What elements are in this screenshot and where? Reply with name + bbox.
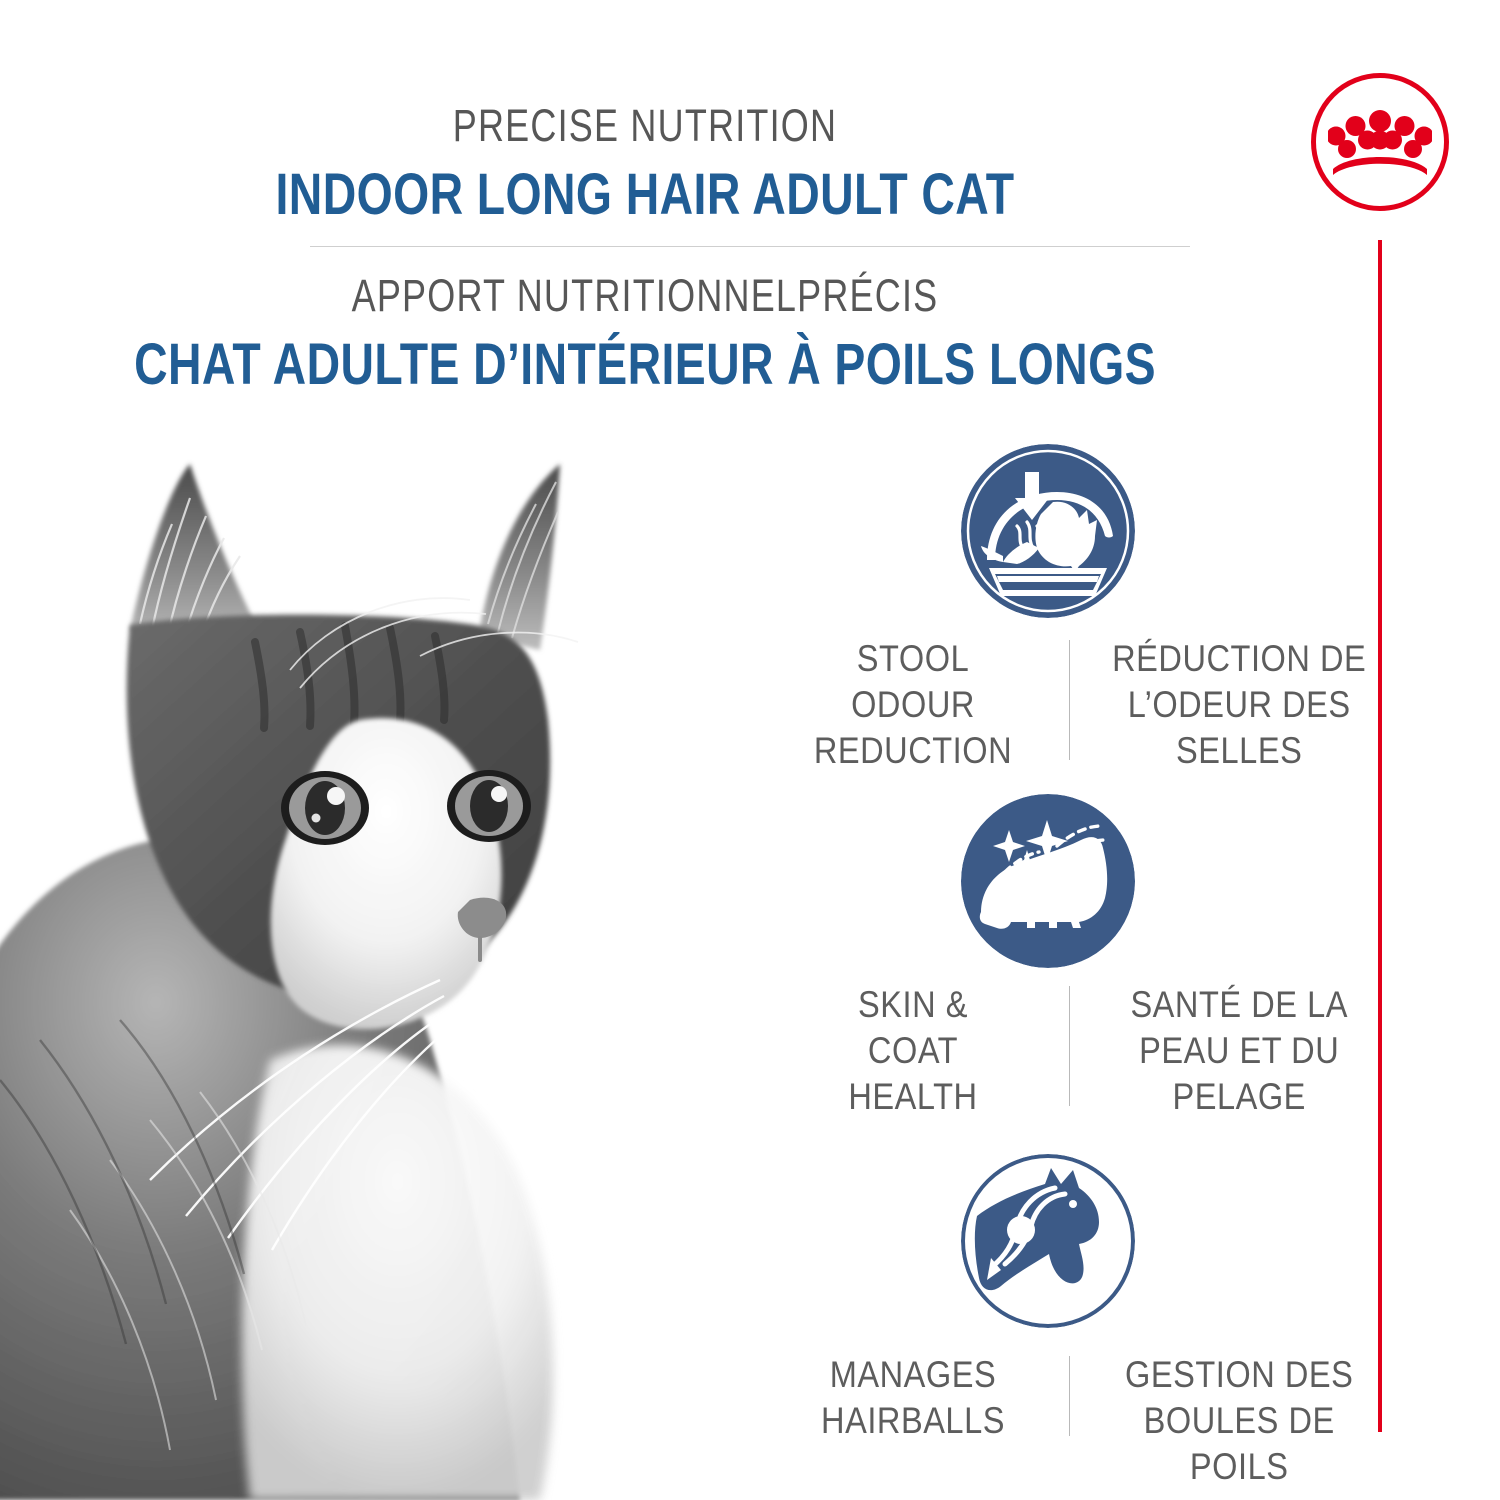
english-kicker: PRECISE NUTRITION: [129, 101, 1161, 151]
benefit-3-divider: [1069, 1356, 1070, 1436]
cat-photo: [0, 420, 700, 1500]
benefit-2-divider: [1069, 986, 1070, 1106]
benefit-3-label-en: MANAGES HAIRBALLS: [781, 1352, 1045, 1444]
royal-canin-crown-icon: [1328, 107, 1432, 177]
product-infographic-page: PRECISE NUTRITION INDOOR LONG HAIR ADULT…: [0, 0, 1500, 1500]
benefit-1-label-en: STOOL ODOUR REDUCTION: [781, 636, 1045, 774]
brand-accent-line: [1378, 240, 1382, 1432]
cat-litter-box-arrow-icon: [961, 444, 1135, 618]
english-product-title: INDOOR LONG HAIR ADULT CAT: [129, 163, 1161, 227]
royal-canin-logo: [1311, 73, 1449, 211]
benefit-3-labels: MANAGES HAIRBALLS GESTION DES BOULES DE …: [745, 1352, 1424, 1490]
benefit-2-label-fr: SANTÉ DE LA PEAU ET DU PELAGE: [1094, 982, 1384, 1120]
benefit-2-labels: SKIN & COAT HEALTH SANTÉ DE LA PEAU ET D…: [745, 982, 1424, 1120]
benefit-3-label-fr: GESTION DES BOULES DE POILS: [1094, 1352, 1384, 1490]
benefit-1-labels: STOOL ODOUR REDUCTION RÉDUCTION DE L’ODE…: [745, 636, 1424, 774]
benefit-1-divider: [1069, 640, 1070, 760]
benefit-1-label-fr: RÉDUCTION DE L’ODEUR DES SELLES: [1094, 636, 1384, 774]
cat-hairball-digestion-icon: [961, 1154, 1135, 1328]
header-divider: [310, 246, 1190, 247]
french-product-title: CHAT ADULTE D’INTÉRIEUR À POILS LONGS: [129, 333, 1161, 397]
french-kicker: APPORT NUTRITIONNELPRÉCIS: [129, 271, 1161, 321]
long-hair-cat-sparkles-icon: [961, 794, 1135, 968]
benefit-2-label-en: SKIN & COAT HEALTH: [781, 982, 1045, 1120]
